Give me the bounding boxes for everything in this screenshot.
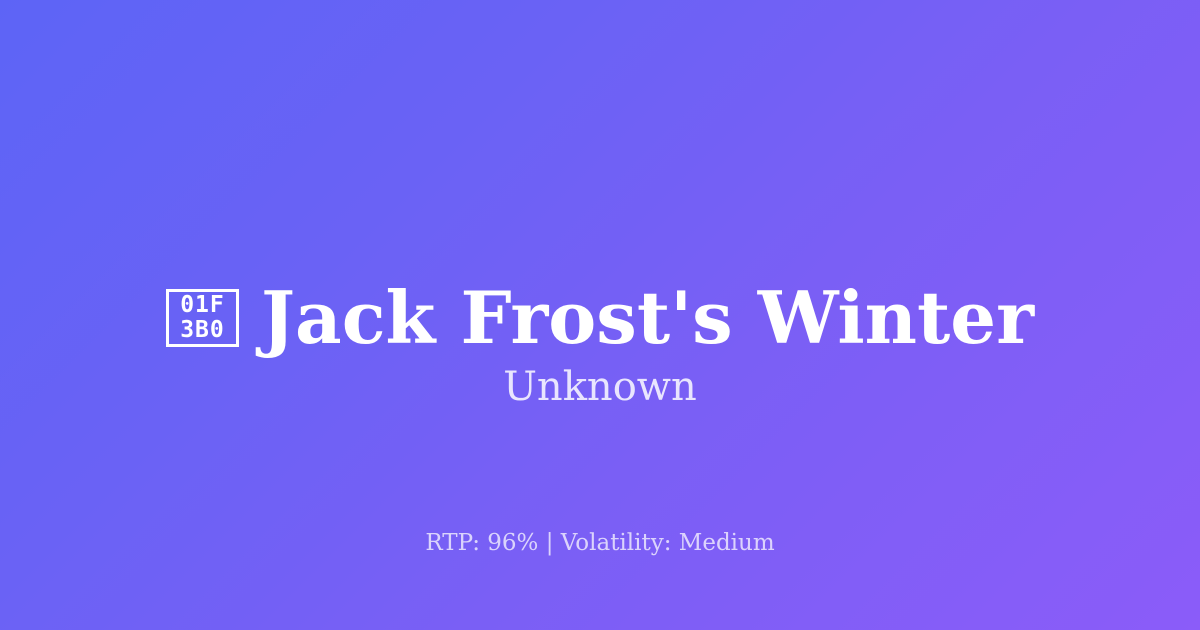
- tofu-codepoint-line-1: 01F: [180, 293, 225, 318]
- game-og-card: 01F 3B0 Jack Frost's Winter Unknown RTP:…: [0, 0, 1200, 630]
- slot-machine-emoji-tofu-icon: 01F 3B0: [166, 289, 239, 347]
- game-stats-line: RTP: 96% | Volatility: Medium: [0, 528, 1200, 558]
- page-title: Jack Frost's Winter: [261, 281, 1034, 354]
- provider-subtitle: Unknown: [0, 363, 1200, 411]
- tofu-codepoint-line-2: 3B0: [180, 318, 225, 343]
